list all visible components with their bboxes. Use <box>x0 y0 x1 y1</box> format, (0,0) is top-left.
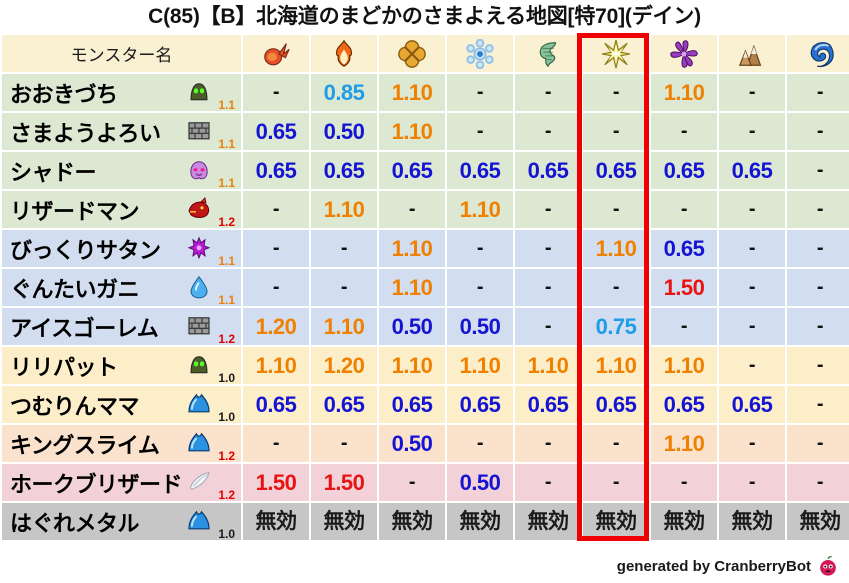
table-row: リリパット1.01.101.201.101.101.101.101.10-- <box>2 347 849 384</box>
resistance-cell: - <box>583 113 649 150</box>
flame-icon <box>311 39 377 69</box>
white-wing-icon <box>187 469 211 493</box>
brick-icon <box>187 118 211 142</box>
resistance-cell: - <box>583 425 649 462</box>
resistance-cell: - <box>515 308 581 345</box>
table-row: はぐれメタル1.0無効無効無効無効無効無効無効無効無効 <box>2 503 849 540</box>
monster-multiplier: 1.0 <box>218 411 235 423</box>
resistance-cell: 0.65 <box>379 152 445 189</box>
resistance-cell: 1.10 <box>379 113 445 150</box>
resistance-cell: 0.65 <box>243 386 309 423</box>
resistance-cell: - <box>447 113 513 150</box>
resistance-cell: - <box>379 191 445 228</box>
brick-icon <box>187 313 211 337</box>
snowflake-icon <box>447 39 513 69</box>
monster-name: さまようよろい <box>10 116 161 148</box>
resistance-cell: 無効 <box>651 503 717 540</box>
resistance-cell: - <box>787 230 849 267</box>
resistance-cell: 0.65 <box>651 230 717 267</box>
column-header-snowflake[interactable] <box>447 35 513 72</box>
monster-name-header-label: モンスター名 <box>71 46 173 65</box>
resistance-cell: - <box>719 191 785 228</box>
resistance-cell: 1.10 <box>651 74 717 111</box>
column-header-monster-name: モンスター名 <box>2 35 241 72</box>
monster-name-cell[interactable]: ぐんたいガニ1.1 <box>2 269 241 306</box>
resistance-cell: - <box>787 464 849 501</box>
table-row: アイスゴーレム1.21.201.100.500.50-0.75--- <box>2 308 849 345</box>
blue-slime-icon <box>187 391 211 415</box>
resistance-cell: 無効 <box>515 503 581 540</box>
resistance-cell: 0.50 <box>379 425 445 462</box>
resistance-cell: 0.65 <box>379 386 445 423</box>
monster-name: シャドー <box>10 155 96 187</box>
monster-name-cell[interactable]: はぐれメタル1.0 <box>2 503 241 540</box>
resistance-cell: - <box>447 230 513 267</box>
purple-ghost-icon <box>187 157 211 181</box>
resistance-cell: 1.10 <box>651 425 717 462</box>
column-header-flame[interactable] <box>311 35 377 72</box>
mountain-icon <box>719 39 785 69</box>
wave-icon <box>787 39 849 69</box>
resistance-cell: - <box>515 191 581 228</box>
resistance-cell: - <box>311 425 377 462</box>
resistance-cell: 1.10 <box>583 230 649 267</box>
table-row: ぐんたいガニ1.1--1.10---1.50-- <box>2 269 849 306</box>
resistance-cell: - <box>719 269 785 306</box>
resistance-cell: 1.10 <box>243 347 309 384</box>
monster-name-cell[interactable]: アイスゴーレム1.2 <box>2 308 241 345</box>
resistance-cell: 1.10 <box>515 347 581 384</box>
resistance-cell: 0.85 <box>311 74 377 111</box>
resistance-cell: - <box>787 425 849 462</box>
resistance-cell: - <box>787 386 849 423</box>
resistance-cell: 0.75 <box>583 308 649 345</box>
resistance-cell: - <box>515 113 581 150</box>
resistance-cell: - <box>515 230 581 267</box>
table-row: さまようよろい1.10.650.501.10------ <box>2 113 849 150</box>
resistance-cell: 0.65 <box>583 152 649 189</box>
column-header-lightstar[interactable] <box>583 35 649 72</box>
resistance-cell: 0.50 <box>311 113 377 150</box>
monster-name: おおきづち <box>10 77 118 109</box>
resistance-cell: 0.65 <box>719 386 785 423</box>
table-row: シャドー1.10.650.650.650.650.650.650.650.65- <box>2 152 849 189</box>
monster-name-cell[interactable]: さまようよろい1.1 <box>2 113 241 150</box>
resistance-cell: - <box>719 464 785 501</box>
resistance-cell: 無効 <box>719 503 785 540</box>
lightstar-icon <box>583 39 649 69</box>
resistance-cell: - <box>379 464 445 501</box>
resistance-cell: 1.10 <box>311 308 377 345</box>
resistance-cell: - <box>583 74 649 111</box>
resistance-cell: - <box>583 269 649 306</box>
footer-text: generated by CranberryBot <box>617 558 811 575</box>
monster-name: リザードマン <box>10 194 139 226</box>
resistance-cell: - <box>787 152 849 189</box>
resistance-cell: - <box>719 425 785 462</box>
cranberry-icon <box>817 555 839 577</box>
resistance-cell: - <box>719 308 785 345</box>
monster-name: リリパット <box>10 350 118 382</box>
resistance-cell: - <box>447 425 513 462</box>
monster-multiplier: 1.0 <box>218 372 235 384</box>
resistance-cell: - <box>787 269 849 306</box>
resistance-cell: - <box>583 191 649 228</box>
monster-name: ぐんたいガニ <box>10 272 139 304</box>
resistance-cell: 1.10 <box>651 347 717 384</box>
resistance-cell: 0.50 <box>447 464 513 501</box>
damage-table-page: C(85)【B】北海道のまどかのさまよえる地図[特70](デイン) モンスター名… <box>0 0 849 583</box>
resistance-cell: 1.10 <box>379 74 445 111</box>
resistance-cell: 1.10 <box>311 191 377 228</box>
resistance-cell: 1.10 <box>379 269 445 306</box>
resistance-cell: - <box>243 230 309 267</box>
resistance-cell: 1.20 <box>243 308 309 345</box>
resistance-cell: 0.50 <box>379 308 445 345</box>
monster-name: キングスライム <box>10 428 159 460</box>
monster-multiplier: 1.1 <box>218 294 235 306</box>
resistance-cell: 0.65 <box>447 152 513 189</box>
resistance-cell: 0.65 <box>311 152 377 189</box>
resistance-cell: 無効 <box>447 503 513 540</box>
resistance-table: モンスター名 おおきづち1.1-0.851.10---1.10--さまようよろい… <box>0 33 849 542</box>
resistance-cell: 1.10 <box>379 347 445 384</box>
monster-name-cell[interactable]: びっくりサタン1.1 <box>2 230 241 267</box>
table-row: リザードマン1.2-1.10-1.10----- <box>2 191 849 228</box>
resistance-cell: - <box>651 308 717 345</box>
resistance-cell: - <box>515 74 581 111</box>
resistance-cell: 1.10 <box>447 191 513 228</box>
monster-multiplier: 1.1 <box>218 255 235 267</box>
table-row: キングスライム1.2--0.50---1.10-- <box>2 425 849 462</box>
monster-multiplier: 1.1 <box>218 138 235 150</box>
monster-name-cell[interactable]: ホークブリザード1.2 <box>2 464 241 501</box>
resistance-cell: 0.65 <box>583 386 649 423</box>
resistance-cell: 無効 <box>787 503 849 540</box>
blue-slime-icon <box>187 430 211 454</box>
resistance-cell: - <box>515 269 581 306</box>
resistance-cell: 0.65 <box>311 386 377 423</box>
monster-name-cell[interactable]: おおきづち1.1 <box>2 74 241 111</box>
monster-multiplier: 1.1 <box>218 99 235 111</box>
resistance-cell: 0.65 <box>719 152 785 189</box>
resistance-cell: 無効 <box>583 503 649 540</box>
monster-multiplier: 1.2 <box>218 333 235 345</box>
resistance-cell: 無効 <box>243 503 309 540</box>
resistance-cell: - <box>311 230 377 267</box>
resistance-cell: - <box>651 113 717 150</box>
page-title: C(85)【B】北海道のまどかのさまよえる地図[特70](デイン) <box>0 1 849 32</box>
resistance-cell: - <box>787 191 849 228</box>
resistance-cell: 0.65 <box>243 113 309 150</box>
resistance-cell: - <box>787 347 849 384</box>
monster-multiplier: 1.2 <box>218 450 235 462</box>
green-slime-icon <box>187 352 211 376</box>
table-row: ホークブリザード1.21.501.50-0.50----- <box>2 464 849 501</box>
resistance-cell: 無効 <box>379 503 445 540</box>
resistance-cell: 1.10 <box>447 347 513 384</box>
resistance-cell: - <box>651 191 717 228</box>
table-row: おおきづち1.1-0.851.10---1.10-- <box>2 74 849 111</box>
resistance-cell: 0.65 <box>515 152 581 189</box>
monster-name-cell[interactable]: シャドー1.1 <box>2 152 241 189</box>
resistance-cell: - <box>243 425 309 462</box>
fireball-icon <box>243 39 309 69</box>
table-head: モンスター名 <box>2 35 849 72</box>
resistance-cell: - <box>243 191 309 228</box>
resistance-cell: 1.10 <box>379 230 445 267</box>
monster-name: つむりんママ <box>10 389 139 421</box>
resistance-cell: - <box>243 269 309 306</box>
table-row: びっくりサタン1.1--1.10--1.100.65-- <box>2 230 849 267</box>
red-dragon-icon <box>187 196 211 220</box>
monster-multiplier: 1.1 <box>218 177 235 189</box>
table-row: つむりんママ1.00.650.650.650.650.650.650.650.6… <box>2 386 849 423</box>
green-slime-icon <box>187 79 211 103</box>
blue-slime-icon <box>187 508 211 532</box>
resistance-cell: - <box>719 347 785 384</box>
resistance-cell: - <box>447 269 513 306</box>
resistance-cell: 0.65 <box>651 152 717 189</box>
column-header-mountain[interactable] <box>719 35 785 72</box>
resistance-cell: - <box>719 113 785 150</box>
resistance-cell: - <box>447 74 513 111</box>
column-header-fireball[interactable] <box>243 35 309 72</box>
monster-name: アイスゴーレム <box>10 311 158 343</box>
monster-name-cell[interactable]: つむりんママ1.0 <box>2 386 241 423</box>
monster-name: はぐれメタル <box>10 506 139 538</box>
resistance-cell: - <box>515 425 581 462</box>
resistance-cell: - <box>787 74 849 111</box>
resistance-cell: - <box>651 464 717 501</box>
purple-trident-icon <box>187 235 211 259</box>
waterdrop-icon <box>187 274 211 298</box>
resistance-cell: 無効 <box>311 503 377 540</box>
resistance-cell: - <box>583 464 649 501</box>
resistance-cell: - <box>787 113 849 150</box>
resistance-cell: 1.20 <box>311 347 377 384</box>
column-header-wave[interactable] <box>787 35 849 72</box>
monster-name-cell[interactable]: リリパット1.0 <box>2 347 241 384</box>
resistance-cell: - <box>719 74 785 111</box>
resistance-cell: - <box>311 269 377 306</box>
monster-multiplier: 1.2 <box>218 489 235 501</box>
footer: generated by CranberryBot <box>617 555 839 577</box>
monster-multiplier: 1.0 <box>218 528 235 540</box>
resistance-cell: 1.50 <box>651 269 717 306</box>
resistance-cell: 0.65 <box>243 152 309 189</box>
monster-name-cell[interactable]: キングスライム1.2 <box>2 425 241 462</box>
pinwheel-icon <box>651 39 717 69</box>
column-header-explosion[interactable] <box>379 35 445 72</box>
resistance-cell: 0.65 <box>447 386 513 423</box>
tornado-icon <box>515 39 581 69</box>
monster-name-cell[interactable]: リザードマン1.2 <box>2 191 241 228</box>
resistance-cell: - <box>515 464 581 501</box>
column-header-pinwheel[interactable] <box>651 35 717 72</box>
resistance-cell: - <box>787 308 849 345</box>
monster-name: ホークブリザード <box>10 467 182 499</box>
monster-name: びっくりサタン <box>10 233 161 265</box>
explosion-icon <box>379 39 445 69</box>
resistance-cell: 1.50 <box>243 464 309 501</box>
resistance-cell: 0.65 <box>651 386 717 423</box>
resistance-cell: - <box>719 230 785 267</box>
resistance-cell: 1.50 <box>311 464 377 501</box>
monster-multiplier: 1.2 <box>218 216 235 228</box>
resistance-cell: 0.50 <box>447 308 513 345</box>
column-header-tornado[interactable] <box>515 35 581 72</box>
table-body: おおきづち1.1-0.851.10---1.10--さまようよろい1.10.65… <box>2 74 849 540</box>
resistance-cell: - <box>243 74 309 111</box>
table-header-row: モンスター名 <box>2 35 849 72</box>
resistance-cell: 1.10 <box>583 347 649 384</box>
resistance-cell: 0.65 <box>515 386 581 423</box>
